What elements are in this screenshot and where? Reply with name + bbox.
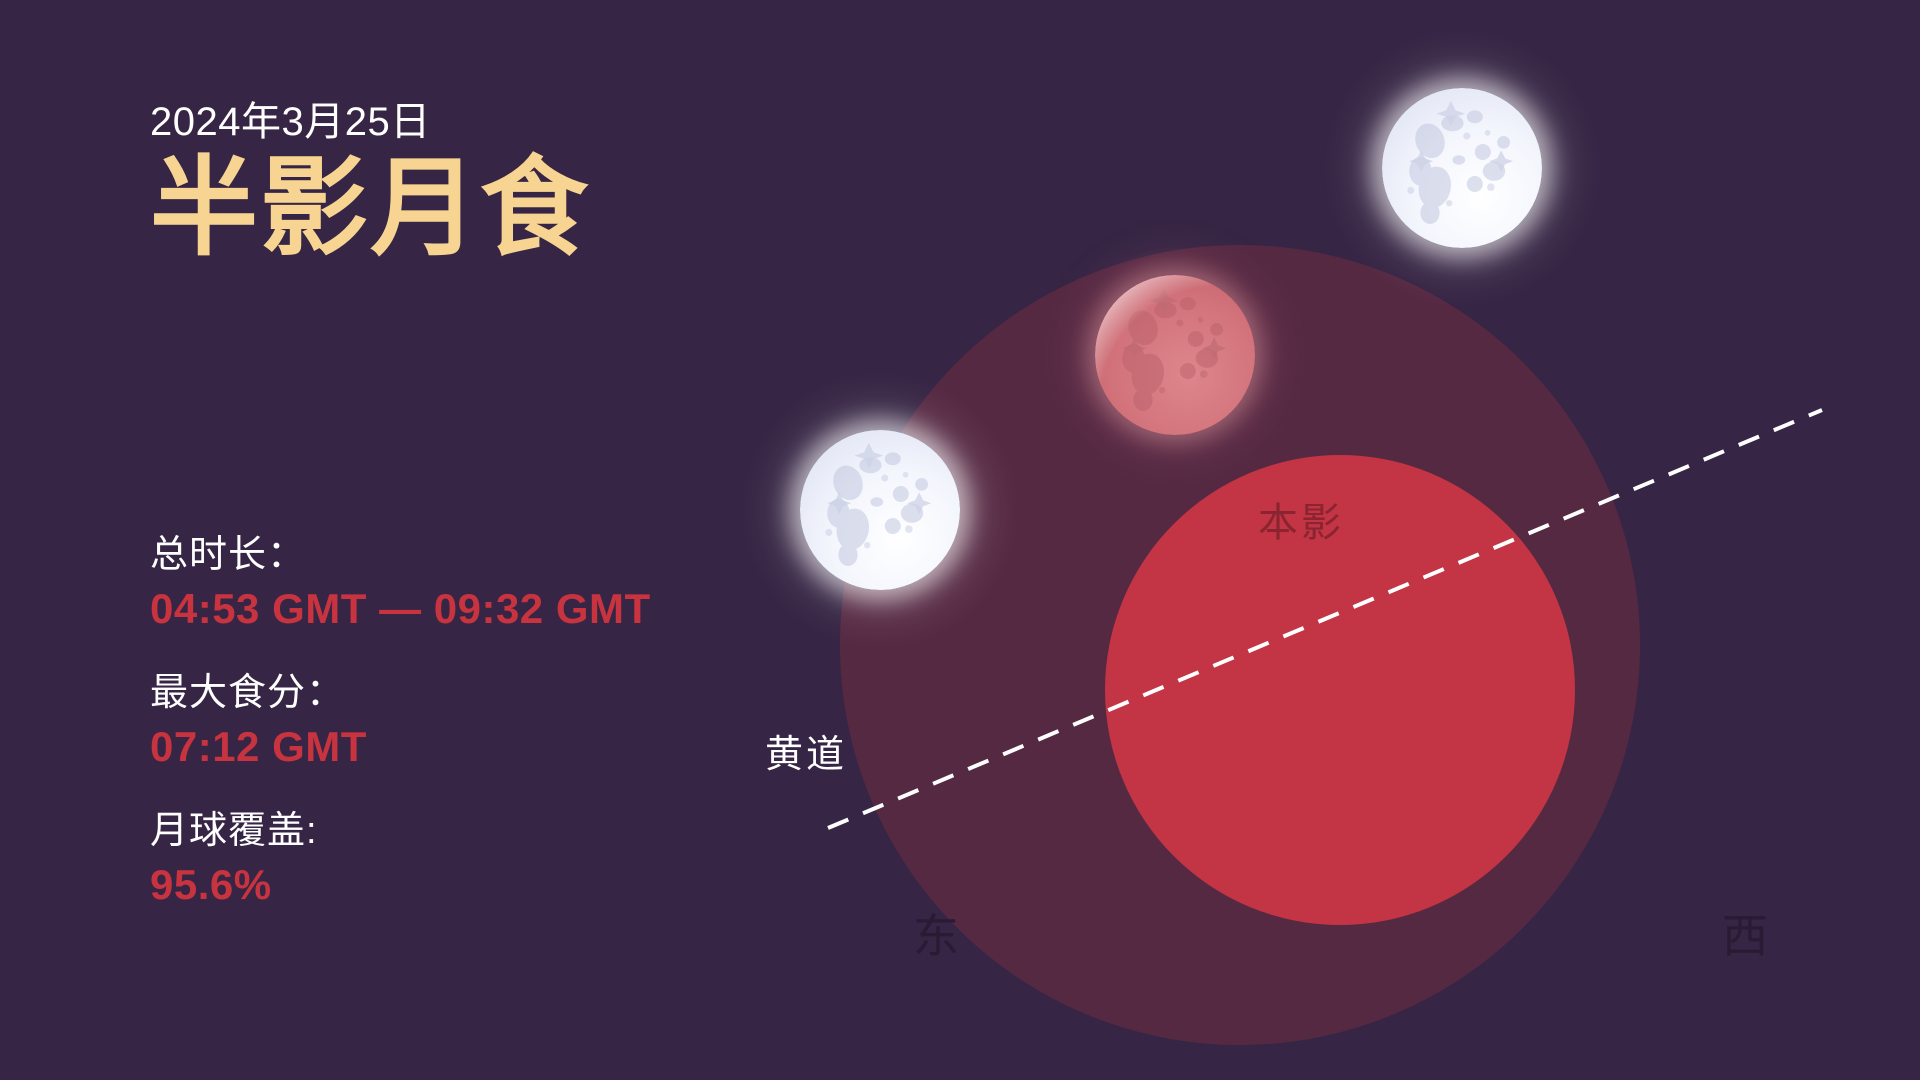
stat-coverage: 月球覆盖: 95.6% <box>150 806 850 914</box>
header-block: 2024年3月25日 半影月食 <box>150 100 790 267</box>
stat-label: 月球覆盖: <box>150 806 850 857</box>
moon-uneclipsed-west <box>1382 88 1542 248</box>
stat-maximum: 最大食分： 07:12 GMT <box>150 668 850 776</box>
direction-label-west: 西 <box>1722 900 1770 966</box>
stat-duration: 总时长： 04:53 GMT — 09:32 GMT <box>150 530 850 638</box>
moon-bright-limb <box>1095 275 1255 435</box>
stat-value: 07:12 GMT <box>150 719 850 776</box>
moon-eclipsed <box>1095 275 1255 435</box>
page-title: 半影月食 <box>150 150 790 267</box>
eclipse-infographic: 本影 黄道 <box>0 0 1920 1080</box>
eclipse-stats: 总时长： 04:53 GMT — 09:32 GMT 最大食分： 07:12 G… <box>150 530 850 914</box>
stat-label: 总时长： <box>150 530 850 581</box>
umbra-label: 本影 <box>1258 490 1344 548</box>
moon-craters <box>1382 88 1542 248</box>
eclipse-date: 2024年3月25日 <box>150 100 790 144</box>
stat-label: 最大食分： <box>150 668 850 719</box>
stat-value: 95.6% <box>150 857 850 914</box>
stat-value: 04:53 GMT — 09:32 GMT <box>150 581 850 638</box>
direction-label-east: 东 <box>913 900 961 966</box>
